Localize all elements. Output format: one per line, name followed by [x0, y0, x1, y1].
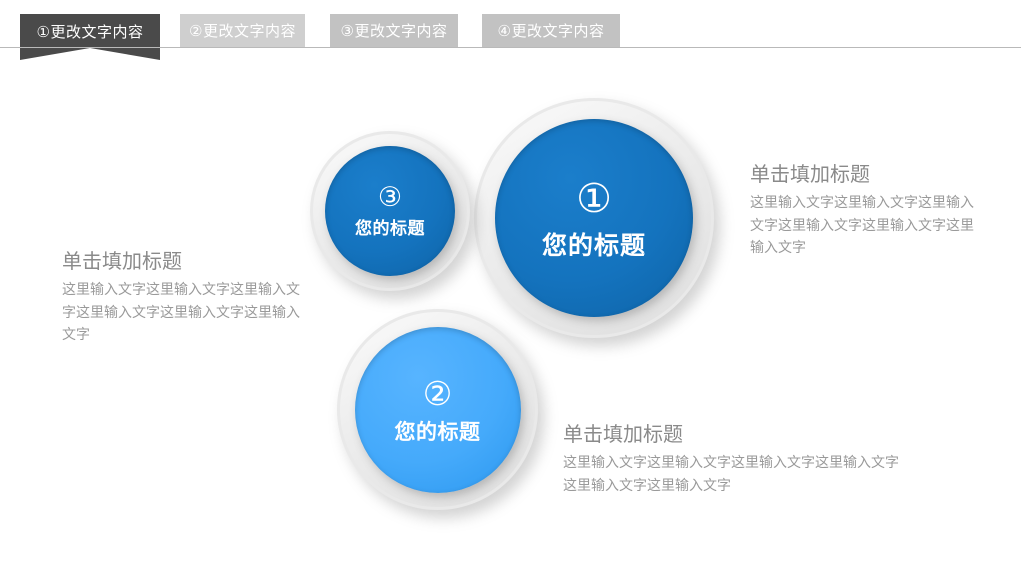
tab-bar: ①更改文字内容 ②更改文字内容 ③更改文字内容 ④更改文字内容	[0, 0, 1021, 52]
tab-2-label: ②更改文字内容	[189, 20, 296, 41]
text-block-left-body: 这里输入文字这里输入文字这里输入文字这里输入文字这里输入文字这里输入文字	[62, 279, 302, 347]
tab-4[interactable]: ④更改文字内容	[482, 14, 620, 47]
tab-4-label: ④更改文字内容	[498, 20, 605, 41]
circle-node-1-core: ① 您的标题	[495, 119, 693, 317]
text-block-left: 单击填加标题 这里输入文字这里输入文字这里输入文字这里输入文字这里输入文字这里输…	[62, 250, 302, 347]
circle-node-3-label: 您的标题	[355, 221, 425, 238]
circle-node-3-core: ③ 您的标题	[325, 146, 455, 276]
text-block-right: 单击填加标题 这里输入文字这里输入文字这里输入文字这里输入文字这里输入文字这里输…	[750, 163, 982, 260]
text-block-right-title: 单击填加标题	[750, 163, 982, 185]
text-block-bottom: 单击填加标题 这里输入文字这里输入文字这里输入文字这里输入文字这里输入文字这里输…	[563, 423, 903, 497]
tab-1-label: ①更改文字内容	[37, 21, 144, 42]
circle-node-1-number: ①	[576, 179, 612, 219]
circle-node-2-core: ② 您的标题	[355, 327, 521, 493]
circle-node-1-label: 您的标题	[542, 233, 646, 258]
text-block-left-title: 单击填加标题	[62, 250, 302, 272]
tab-2[interactable]: ②更改文字内容	[180, 14, 305, 47]
tab-3-label: ③更改文字内容	[341, 20, 448, 41]
tab-divider-line	[0, 47, 1021, 48]
circle-node-1[interactable]: ① 您的标题	[474, 98, 714, 338]
circle-node-2-label: 您的标题	[395, 422, 481, 443]
circle-node-2-number: ②	[423, 377, 453, 410]
tab-1-pointer	[20, 48, 160, 60]
text-block-bottom-title: 单击填加标题	[563, 423, 903, 445]
circle-node-2[interactable]: ② 您的标题	[337, 309, 538, 510]
text-block-right-body: 这里输入文字这里输入文字这里输入文字这里输入文字这里输入文字这里输入文字	[750, 192, 982, 260]
circle-node-3-number: ③	[378, 184, 402, 211]
tab-3[interactable]: ③更改文字内容	[330, 14, 458, 47]
circle-node-3[interactable]: ③ 您的标题	[310, 131, 470, 291]
tab-1[interactable]: ①更改文字内容	[20, 14, 160, 48]
text-block-bottom-body: 这里输入文字这里输入文字这里输入文字这里输入文字这里输入文字这里输入文字	[563, 452, 903, 497]
